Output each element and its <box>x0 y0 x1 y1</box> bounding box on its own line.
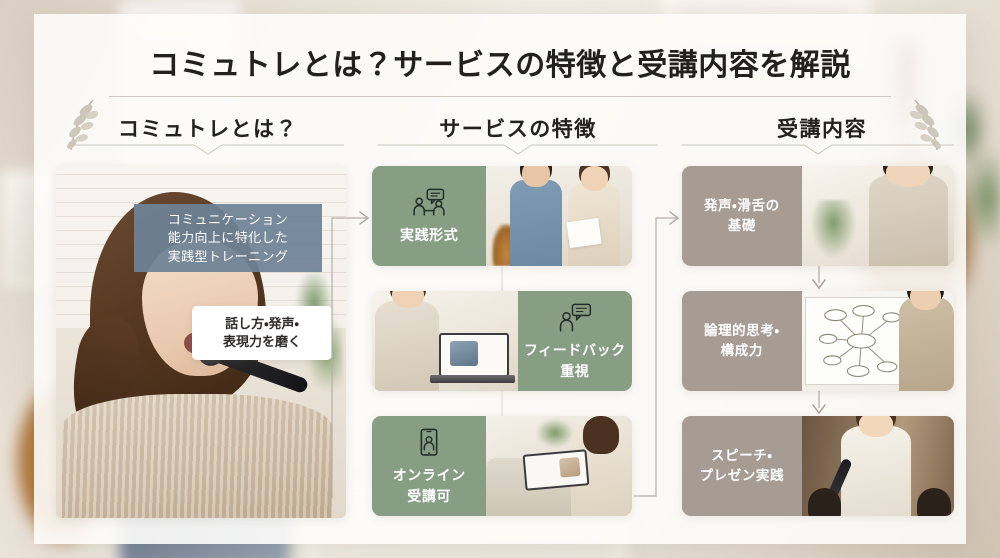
page-title: コミュトレとは？サービスの特徴と受講内容を解説 <box>34 40 966 84</box>
hero-caption-box: 話し方・発声・ 表現力を磨く <box>192 306 332 360</box>
person-speech-bubble-icon <box>558 301 592 335</box>
hero-caption-line: 話し方・発声・ <box>225 315 299 333</box>
column-heading-text: 受講内容 <box>777 113 867 143</box>
curriculum-card-label: 論理的思考・ 構成力 <box>682 291 802 391</box>
feature-label-line: フィードバック <box>524 341 626 361</box>
feature-card-text: フィードバック 重視 <box>524 341 626 381</box>
infographic-panel: コミュトレとは？サービスの特徴と受講内容を解説 コミュトレとは？ <box>34 14 966 544</box>
feature-label-line: 重視 <box>560 362 589 382</box>
connector-features-2-3 <box>501 391 503 416</box>
curriculum-label-line: 論理的思考・ <box>704 322 780 341</box>
page-title-text: コミュトレとは？サービスの特徴と受講内容を解説 <box>34 40 966 84</box>
hero-overlay-line: 実践型トレーニング <box>168 248 289 266</box>
curriculum-card-photo <box>802 166 954 266</box>
hero-knit-texture <box>62 394 332 518</box>
curriculum-card-text: スピーチ・ プレゼン実践 <box>700 447 785 486</box>
feature-card-text: オンライン 受講可 <box>393 466 466 506</box>
tablet-person-icon <box>412 426 446 460</box>
curriculum-label-line: 基礎 <box>728 217 756 236</box>
feature-card-feedback[interactable]: フィードバック 重視 <box>372 291 632 391</box>
curriculum-card-speech[interactable]: スピーチ・ プレゼン実践 <box>682 416 954 516</box>
column-heading-text: コミュトレとは？ <box>118 113 298 143</box>
feature-card-practical[interactable]: 実践形式 <box>372 166 632 266</box>
curriculum-card-label: 発声・滑舌の 基礎 <box>682 166 802 266</box>
heading-ribbon-underline <box>378 144 658 156</box>
connector-features-1-2 <box>501 266 503 291</box>
feature-card-label: オンライン 受講可 <box>372 416 486 516</box>
curriculum-label-line: 発声・滑舌の <box>704 197 780 216</box>
feature-card-photo <box>486 166 632 266</box>
title-divider <box>109 96 891 97</box>
curriculum-card-logic[interactable]: 論理的思考・ 構成力 <box>682 291 954 391</box>
feature-card-label: フィードバック 重視 <box>518 291 632 391</box>
feature-card-photo <box>486 416 632 516</box>
curriculum-label-line: プレゼン実践 <box>700 467 785 486</box>
feature-card-photo <box>372 291 518 391</box>
feature-label-line: 実践形式 <box>400 226 458 246</box>
hero-person-body <box>62 394 332 518</box>
curriculum-card-text: 発声・滑舌の 基礎 <box>704 197 780 236</box>
feature-label-line: 受講可 <box>407 487 451 507</box>
feature-card-online[interactable]: オンライン 受講可 <box>372 416 632 516</box>
connector-features-to-curriculum <box>634 200 684 500</box>
heading-ribbon-underline <box>72 144 344 156</box>
curriculum-label-line: 構成力 <box>721 342 763 361</box>
hero-overlay-caption: コミュニケーション 能力向上に特化した 実践型トレーニング <box>134 204 322 272</box>
curriculum-label-line: スピーチ・ <box>711 447 773 466</box>
hero-overlay-line: コミュニケーション <box>168 211 288 229</box>
connector-curriculum-1-2 <box>809 266 829 292</box>
feature-card-label: 実践形式 <box>372 166 486 266</box>
curriculum-card-text: 論理的思考・ 構成力 <box>704 322 780 361</box>
hero-overlay-line: 能力向上に特化した <box>168 229 289 247</box>
hero-caption-line: 表現力を磨く <box>223 333 301 351</box>
feature-label-line: オンライン <box>393 466 466 486</box>
curriculum-card-photo <box>802 291 954 391</box>
curriculum-card-photo <box>802 416 954 516</box>
column-heading-text: サービスの特徴 <box>439 113 597 143</box>
feature-card-text: 実践形式 <box>400 226 458 246</box>
curriculum-card-label: スピーチ・ プレゼン実践 <box>682 416 802 516</box>
heading-ribbon-underline <box>682 144 954 156</box>
connector-curriculum-2-3 <box>809 391 829 417</box>
two-people-conversation-icon <box>412 186 446 220</box>
curriculum-card-voice[interactable]: 発声・滑舌の 基礎 <box>682 166 954 266</box>
